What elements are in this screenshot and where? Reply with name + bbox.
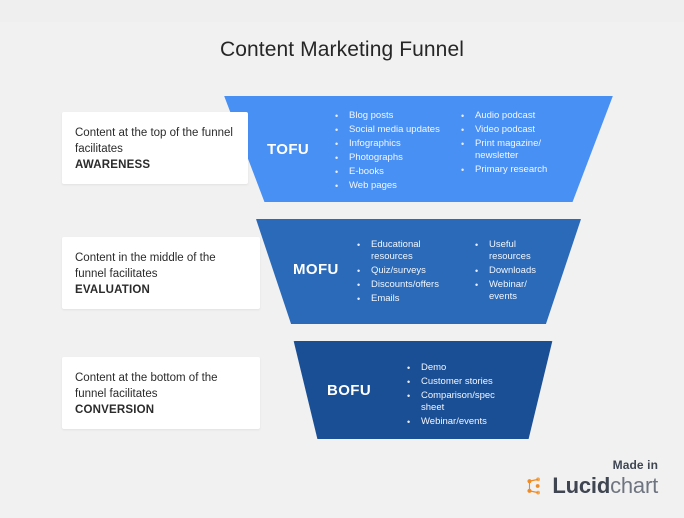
- wordmark-chart: chart: [610, 473, 658, 498]
- bullet-dot-icon: •: [459, 124, 475, 137]
- list-item: •E-books: [333, 166, 459, 179]
- list-item: •Useful resources: [473, 239, 536, 264]
- bullet-dot-icon: •: [405, 376, 421, 389]
- list-item: •Blog posts: [333, 110, 459, 123]
- list-item: •Discounts/offers: [355, 279, 473, 292]
- card-line-1: Content at the top of the: [75, 127, 198, 139]
- lucidchart-logo[interactable]: Lucidchart: [526, 475, 658, 497]
- bullet-dot-icon: •: [473, 239, 489, 252]
- bullet-dot-icon: •: [333, 152, 349, 165]
- list-item: •Photographs: [333, 152, 459, 165]
- bullet-dot-icon: •: [473, 265, 489, 278]
- lucidchart-logo-icon: [526, 476, 546, 496]
- bullet-column: •Audio podcast •Video podcast •Print mag…: [459, 110, 547, 194]
- bullet-dot-icon: •: [333, 110, 349, 123]
- bullet-dot-icon: •: [459, 110, 475, 123]
- list-item: •Downloads: [473, 265, 536, 278]
- bullet-dot-icon: •: [355, 265, 371, 278]
- list-item: •Social media updates: [333, 124, 459, 137]
- list-item: •Print magazine/ newsletter: [459, 138, 547, 163]
- card-emphasis: EVALUATION: [75, 282, 250, 298]
- made-in-label: Made in: [526, 458, 658, 472]
- lucidchart-wordmark: Lucidchart: [552, 475, 658, 497]
- funnel-stage-tofu-label: TOFU: [267, 141, 309, 158]
- bullet-dot-icon: •: [355, 279, 371, 292]
- bullet-dot-icon: •: [459, 164, 475, 177]
- bullet-column: •Educational resources •Quiz/surveys •Di…: [355, 239, 473, 307]
- funnel-diagram-canvas: Content Marketing Funnel TOFU •Blog post…: [0, 0, 684, 518]
- card-line-1: Content in the middle of the: [75, 252, 216, 264]
- funnel-stage-mofu-label: MOFU: [293, 261, 339, 278]
- bullet-dot-icon: •: [333, 124, 349, 137]
- card-emphasis: AWARENESS: [75, 157, 238, 173]
- bullet-dot-icon: •: [473, 279, 489, 292]
- bullet-column: •Useful resources •Downloads •Webinar/ e…: [473, 239, 536, 307]
- list-item: •Web pages: [333, 180, 459, 193]
- wordmark-lucid: Lucid: [552, 473, 610, 498]
- card-line-2: funnel facilitates: [75, 268, 157, 280]
- list-item: •Customer stories: [405, 376, 495, 389]
- list-item: •Infographics: [333, 138, 459, 151]
- bullet-dot-icon: •: [333, 138, 349, 151]
- bullet-dot-icon: •: [333, 180, 349, 193]
- page-title: Content Marketing Funnel: [0, 38, 684, 62]
- bullet-dot-icon: •: [355, 293, 371, 306]
- description-card-awareness[interactable]: Content at the top of the funnel facilit…: [62, 112, 248, 184]
- card-line-1: Content at the bottom of the: [75, 372, 218, 384]
- description-card-awareness-text: Content at the top of the funnel facilit…: [75, 125, 238, 173]
- lucidchart-branding: Made in Lucidchart: [526, 458, 658, 497]
- description-card-conversion[interactable]: Content at the bottom of the funnel faci…: [62, 357, 260, 429]
- bullet-dot-icon: •: [405, 362, 421, 375]
- funnel-stage-tofu-bullets: •Blog posts •Social media updates •Infog…: [333, 110, 547, 194]
- funnel-stage-mofu-bullets: •Educational resources •Quiz/surveys •Di…: [355, 239, 536, 307]
- description-card-conversion-text: Content at the bottom of the funnel faci…: [75, 370, 250, 418]
- list-item: •Webinar/events: [405, 416, 495, 429]
- bullet-dot-icon: •: [333, 166, 349, 179]
- list-item: •Webinar/ events: [473, 279, 536, 304]
- card-emphasis: CONVERSION: [75, 402, 250, 418]
- funnel-stage-bofu-label: BOFU: [327, 382, 371, 399]
- bullet-dot-icon: •: [405, 416, 421, 429]
- list-item: •Educational resources: [355, 239, 473, 264]
- bullet-dot-icon: •: [459, 138, 475, 151]
- list-item: •Audio podcast: [459, 110, 547, 123]
- card-line-2: funnel facilitates: [75, 388, 157, 400]
- list-item: •Demo: [405, 362, 495, 375]
- description-card-evaluation[interactable]: Content in the middle of the funnel faci…: [62, 237, 260, 309]
- bullet-dot-icon: •: [355, 239, 371, 252]
- list-item: •Comparison/spec sheet: [405, 390, 495, 415]
- list-item: •Quiz/surveys: [355, 265, 473, 278]
- list-item: •Video podcast: [459, 124, 547, 137]
- bullet-column: •Demo •Customer stories •Comparison/spec…: [405, 362, 495, 430]
- description-card-evaluation-text: Content in the middle of the funnel faci…: [75, 250, 250, 298]
- bullet-dot-icon: •: [405, 390, 421, 403]
- bullet-column: •Blog posts •Social media updates •Infog…: [333, 110, 459, 194]
- list-item: •Primary research: [459, 164, 547, 177]
- list-item: •Emails: [355, 293, 473, 306]
- funnel-stage-bofu-bullets: •Demo •Customer stories •Comparison/spec…: [405, 362, 495, 430]
